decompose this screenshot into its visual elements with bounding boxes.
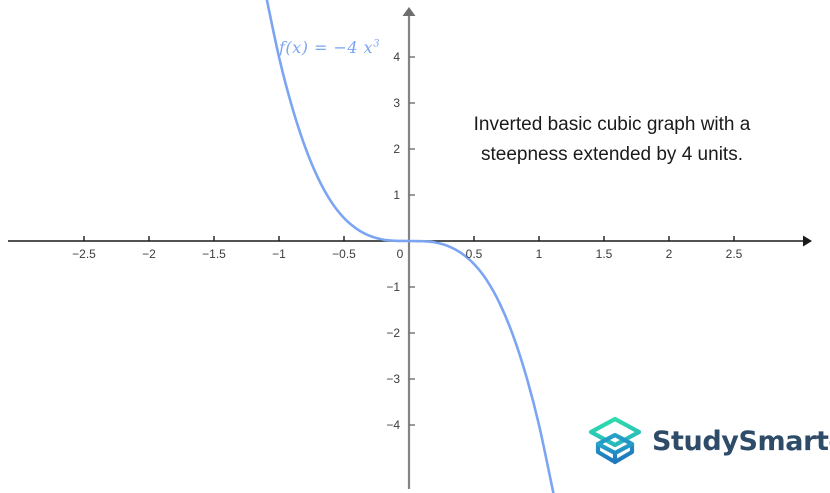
annotation-line-2: steepness extended by 4 units.: [432, 140, 792, 170]
y-tick-label: 2: [380, 143, 400, 155]
x-tick-label: 2.5: [726, 248, 743, 260]
y-tick-label: −2: [373, 327, 400, 339]
annotation-line-1: Inverted basic cubic graph with a: [432, 110, 792, 140]
x-tick-label: −1: [272, 248, 286, 260]
studysmarter-logo: StudySmarter: [588, 415, 830, 467]
y-tick-label: 1: [380, 189, 400, 201]
function-equation-exponent: 3: [373, 39, 380, 50]
x-tick-label: 2: [666, 248, 673, 260]
x-tick-label: 0.5: [466, 248, 483, 260]
x-tick-label: −2.5: [72, 248, 96, 260]
x-axis-arrow-icon: [803, 236, 812, 247]
y-tick-label: 3: [380, 97, 400, 109]
x-tick-label: −1.5: [202, 248, 226, 260]
open-box-logo-icon: [588, 415, 642, 467]
x-tick-label: 1.5: [596, 248, 613, 260]
y-tick-label: −3: [373, 373, 400, 385]
x-tick-label: 1: [536, 248, 543, 260]
origin-label: 0: [397, 248, 404, 260]
annotation-text: Inverted basic cubic graph with a steepn…: [432, 110, 792, 171]
y-tick-label: −1: [373, 281, 400, 293]
y-axis-arrow-icon: [403, 7, 416, 16]
y-tick-label: 4: [380, 51, 400, 63]
function-equation-base: f(x) = −4 x: [279, 38, 373, 57]
cubic-function-figure: −2.5 −2 −1.5 −1 −0.5 0.5 1 1.5 2 2.5 0 4…: [0, 0, 830, 493]
studysmarter-wordmark: StudySmarter: [652, 428, 830, 455]
x-tick-label: −0.5: [332, 248, 356, 260]
y-tick-label: −4: [373, 419, 400, 431]
function-equation-label: f(x) = −4 x3: [279, 38, 380, 57]
x-tick-label: −2: [142, 248, 156, 260]
